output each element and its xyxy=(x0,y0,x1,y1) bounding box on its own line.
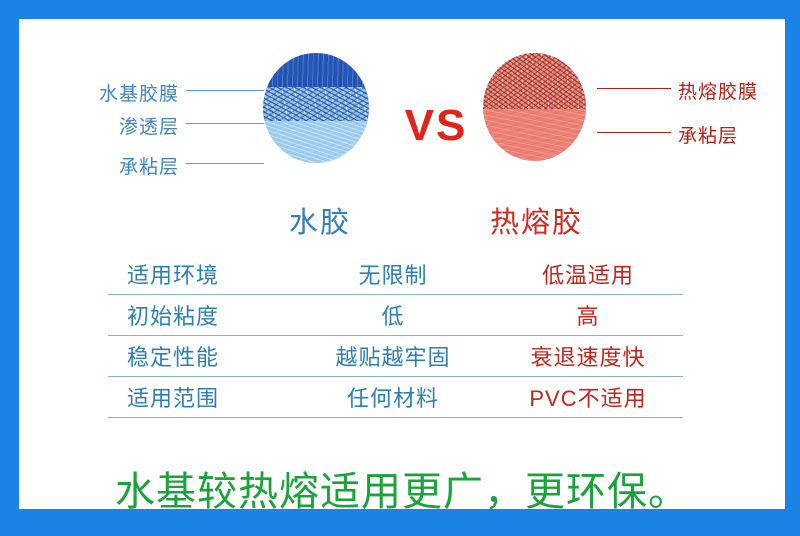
bonding-layer-label-right: 承粘层 xyxy=(678,121,785,148)
penetration-layer-leader-line xyxy=(186,123,264,124)
row-hotmelt-value: PVC不适用 xyxy=(493,381,683,413)
table-row: 稳定性能 越贴越牢固 衰退速度快 xyxy=(108,336,683,377)
table-row: 适用范围 任何材料 PVC不适用 xyxy=(108,377,683,418)
water-based-film-label: 水基胶膜 xyxy=(59,79,179,106)
hot-melt-film-leader-line xyxy=(597,88,671,89)
water-glue-title: 水胶 xyxy=(265,199,375,241)
water-glue-cross-section xyxy=(263,53,369,163)
slogan-text: 水基较热熔适用更广，更环保。 xyxy=(19,459,785,509)
hot-melt-glue-title: 热熔胶 xyxy=(479,199,594,241)
water-based-film-leader-line xyxy=(186,90,264,91)
row-attribute: 适用范围 xyxy=(108,381,293,413)
table-row: 适用环境 无限制 低温适用 xyxy=(108,254,683,295)
penetration-layer-label: 渗透层 xyxy=(59,112,179,139)
bonding-layer-band xyxy=(263,121,369,163)
table-row: 初始粘度 低 高 xyxy=(108,295,683,336)
hot-melt-film-label: 热熔胶膜 xyxy=(678,77,785,104)
bonding-layer-label-left: 承粘层 xyxy=(59,152,179,179)
hot-melt-bonding-layer-band xyxy=(483,109,586,161)
row-attribute: 稳定性能 xyxy=(108,340,293,372)
row-water-value: 无限制 xyxy=(293,258,493,290)
poster-frame: 水基胶膜 渗透层 承粘层 水胶 VS 热熔胶膜 承粘层 热熔胶 适用环境 无限制… xyxy=(0,0,800,536)
row-water-value: 越贴越牢固 xyxy=(293,340,493,372)
hot-melt-film-band xyxy=(483,53,586,109)
water-based-film-band xyxy=(263,53,369,87)
row-attribute: 初始粘度 xyxy=(108,299,293,331)
hot-melt-cross-section xyxy=(483,53,586,161)
row-hotmelt-value: 低温适用 xyxy=(493,258,683,290)
bonding-layer-leader-line-right xyxy=(597,132,671,133)
row-hotmelt-value: 衰退速度快 xyxy=(493,340,683,372)
poster-canvas: 水基胶膜 渗透层 承粘层 水胶 VS 热熔胶膜 承粘层 热熔胶 适用环境 无限制… xyxy=(19,19,785,509)
penetration-layer-band xyxy=(263,87,369,121)
vs-label: VS xyxy=(401,101,471,151)
row-water-value: 低 xyxy=(293,299,493,331)
row-attribute: 适用环境 xyxy=(108,258,293,290)
bonding-layer-leader-line-left xyxy=(186,163,264,164)
comparison-table: 适用环境 无限制 低温适用 初始粘度 低 高 稳定性能 越贴越牢固 衰退速度快 … xyxy=(108,254,683,418)
row-hotmelt-value: 高 xyxy=(493,299,683,331)
row-water-value: 任何材料 xyxy=(293,381,493,413)
